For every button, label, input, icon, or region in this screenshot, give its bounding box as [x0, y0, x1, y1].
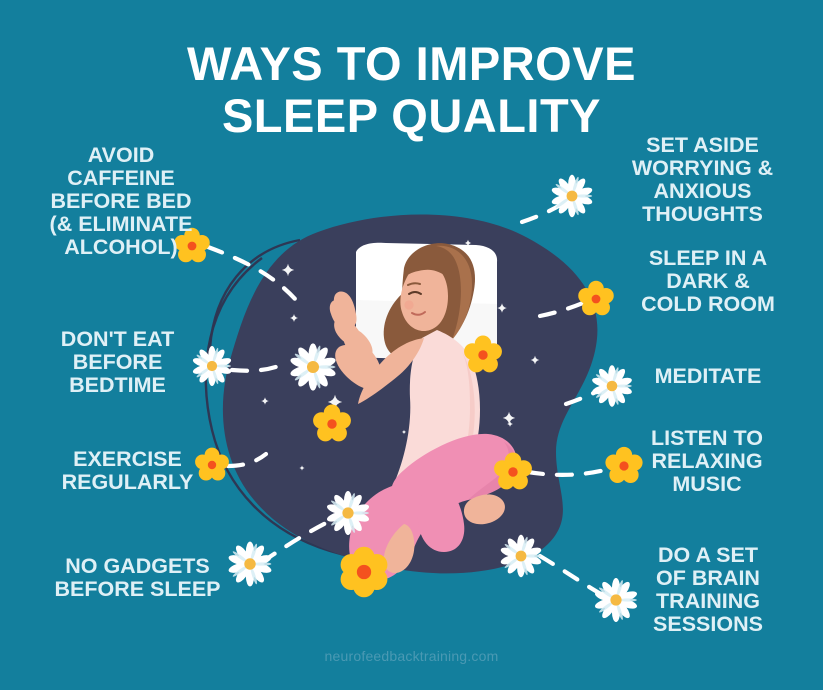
tip-dont-eat: DON'T EAT BEFORE BEDTIME	[10, 328, 225, 397]
infographic-canvas: WAYS TO IMPROVE SLEEP QUALITY AVOID CAFF…	[0, 0, 823, 690]
tip-set-aside-worrying: SET ASIDE WORRYING & ANXIOUS THOUGHTS	[590, 134, 815, 226]
footer-watermark: neurofeedbacktraining.com	[0, 648, 823, 664]
tip-relaxing-music: LISTEN TO RELAXING MUSIC	[596, 427, 818, 496]
tip-dark-cold-room: SLEEP IN A DARK & COLD ROOM	[598, 247, 818, 316]
tip-brain-training: DO A SET OF BRAIN TRAINING SESSIONS	[596, 544, 820, 636]
tip-no-gadgets: NO GADGETS BEFORE SLEEP	[20, 555, 255, 601]
tip-meditate: MEDITATE	[598, 365, 818, 388]
tip-exercise: EXERCISE REGULARLY	[20, 448, 235, 494]
page-title: WAYS TO IMPROVE SLEEP QUALITY	[0, 38, 823, 142]
tip-avoid-caffeine: AVOID CAFFEINE BEFORE BED (& ELIMINATE A…	[6, 144, 236, 259]
